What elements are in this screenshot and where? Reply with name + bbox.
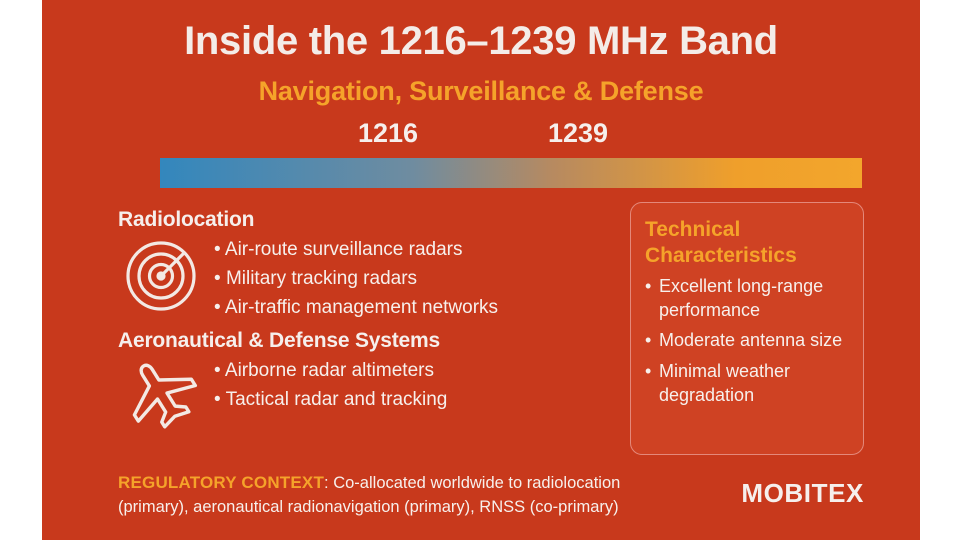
list-item: Excellent long-range performance <box>645 274 849 322</box>
tech-box-list: Excellent long-range performance Moderat… <box>645 274 849 407</box>
content-left-column: Radiolocation Air-route surveillance rad… <box>118 208 618 431</box>
spectrum-scale-labels: 1216 1239 <box>118 118 824 152</box>
infographic-canvas: Inside the 1216–1239 MHz Band Navigation… <box>0 0 960 540</box>
spectrum-gradient-bar <box>160 158 862 188</box>
list-item: Minimal weather degradation <box>645 359 849 407</box>
spectrum-low-label: 1216 <box>358 118 418 149</box>
infographic-panel: Inside the 1216–1239 MHz Band Navigation… <box>42 0 920 540</box>
list-item: Military tracking radars <box>214 265 618 294</box>
page-title: Inside the 1216–1239 MHz Band <box>42 20 920 62</box>
brand-logo: MOBITEX <box>700 478 864 509</box>
list-item: Moderate antenna size <box>645 328 849 352</box>
list-item: Tactical radar and tracking <box>214 386 618 415</box>
spectrum-high-label: 1239 <box>548 118 608 149</box>
regulatory-separator: : <box>324 474 333 492</box>
section-aeronautical-defense: Aeronautical & Defense Systems Airborne … <box>118 329 618 431</box>
tech-box-title: Technical Characteristics <box>645 217 849 268</box>
section-heading: Aeronautical & Defense Systems <box>118 329 618 353</box>
technical-characteristics-box: Technical Characteristics Excellent long… <box>630 202 864 455</box>
page-subtitle: Navigation, Surveillance & Defense <box>42 76 920 107</box>
regulatory-label: REGULATORY CONTEXT <box>118 473 324 492</box>
regulatory-context: REGULATORY CONTEXT: Co-allocated worldwi… <box>118 470 678 520</box>
radar-target-icon <box>118 236 204 316</box>
list-item: Air-traffic management networks <box>214 294 618 323</box>
section-heading: Radiolocation <box>118 208 618 232</box>
section-bullet-list: Airborne radar altimeters Tactical radar… <box>214 357 618 415</box>
list-item: Air-route surveillance radars <box>214 236 618 265</box>
list-item: Airborne radar altimeters <box>214 357 618 386</box>
section-radiolocation: Radiolocation Air-route surveillance rad… <box>118 208 618 323</box>
airplane-icon <box>118 357 204 431</box>
section-bullet-list: Air-route surveillance radars Military t… <box>214 236 618 323</box>
